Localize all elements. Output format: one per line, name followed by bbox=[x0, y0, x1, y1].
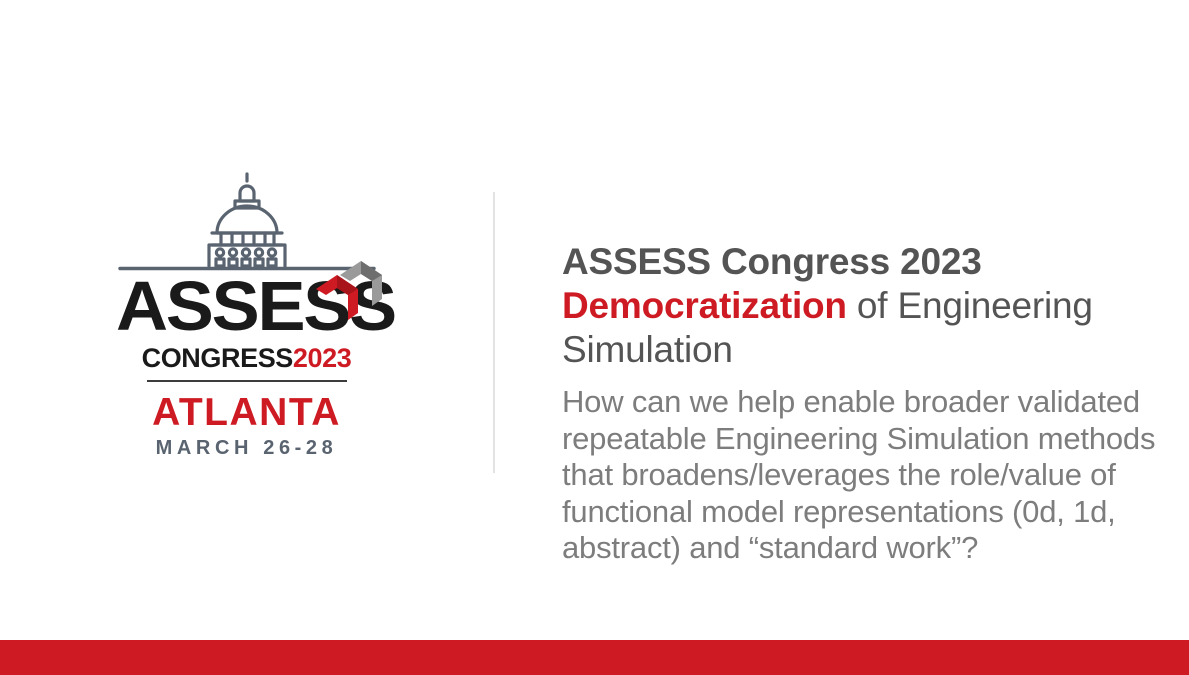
chevron-arrows-mark bbox=[314, 259, 384, 321]
slide-canvas: ASSESS CONGRESS2023 ATLANTA MARCH 26-28 bbox=[0, 0, 1189, 675]
page-title: ASSESS Congress 2023 Democratization of … bbox=[562, 240, 1176, 372]
assess-congress-logo: ASSESS CONGRESS2023 ATLANTA MARCH 26-28 bbox=[116, 169, 378, 460]
assess-wordmark-row: ASSESS bbox=[116, 273, 378, 339]
logo-dates: MARCH 26-28 bbox=[116, 436, 378, 460]
body-paragraph: How can we help enable broader validated… bbox=[562, 384, 1176, 567]
congress-word: CONGRESS bbox=[142, 343, 293, 373]
congress-year-row: CONGRESS2023 bbox=[116, 343, 378, 373]
congress-year: 2023 bbox=[293, 343, 351, 373]
text-pane: ASSESS Congress 2023 Democratization of … bbox=[562, 240, 1176, 567]
title-highlight: Democratization bbox=[562, 285, 847, 326]
logo-pane: ASSESS CONGRESS2023 ATLANTA MARCH 26-28 bbox=[0, 0, 493, 640]
logo-city: ATLANTA bbox=[116, 392, 378, 434]
vertical-divider bbox=[493, 192, 495, 473]
logo-divider-rule bbox=[147, 380, 347, 382]
title-line-1: ASSESS Congress 2023 bbox=[562, 241, 982, 282]
footer-accent-bar bbox=[0, 640, 1189, 675]
